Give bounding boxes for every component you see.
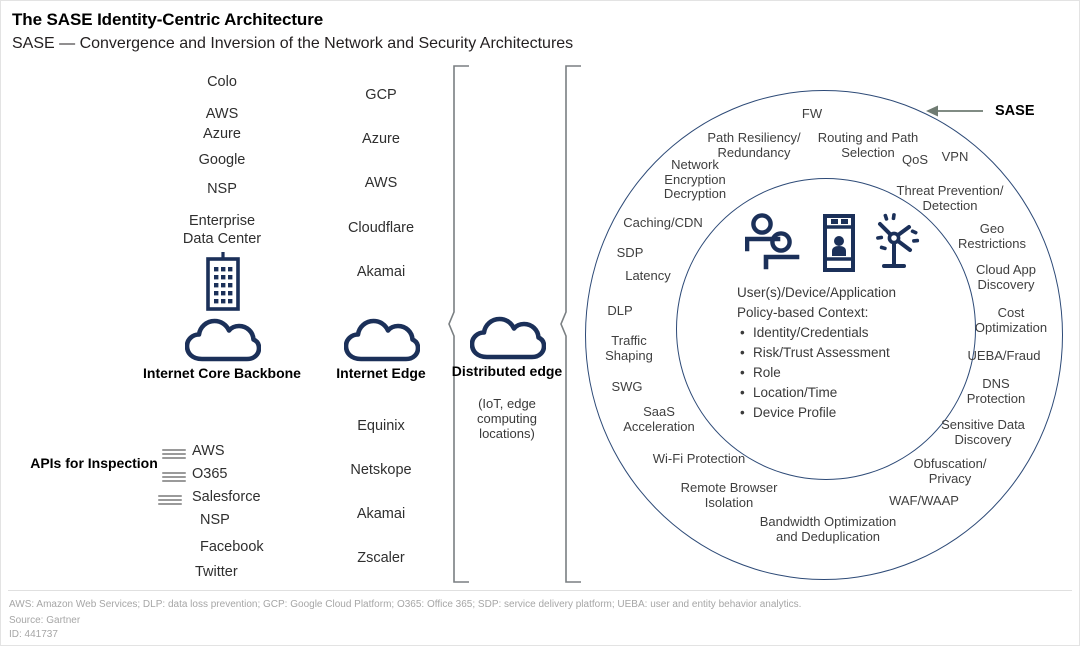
- ring-label-7: Caching/CDN: [623, 216, 702, 231]
- ring-label-10: Cloud App Discovery: [976, 263, 1036, 292]
- ring-label-3: QoS: [902, 153, 928, 168]
- sase-callout-label: SASE: [995, 103, 1035, 119]
- cloud-icon-core-backbone: [185, 315, 261, 363]
- edge-below-1: Netskope: [350, 462, 411, 478]
- core-below-1: O365: [192, 466, 227, 482]
- ring-label-1: Path Resiliency/ Redundancy: [707, 131, 800, 160]
- core-provider-2: Azure: [203, 126, 241, 142]
- sase-callout: SASE: [925, 103, 1035, 119]
- core-provider-0: Colo: [207, 74, 237, 90]
- core-provider-3: Google: [199, 152, 246, 168]
- iot-windmill-icon: [872, 212, 920, 272]
- core-bullet-1: Risk/Trust Assessment: [753, 343, 967, 363]
- office-building-icon: [197, 251, 249, 311]
- ring-label-20: Wi-Fi Protection: [653, 452, 745, 467]
- ring-label-24: Bandwidth Optimization and Deduplication: [760, 515, 897, 544]
- left-arrow-icon: [925, 104, 985, 118]
- internet-core-backbone-label: Internet Core Backbone: [143, 366, 301, 381]
- users-icon: [745, 212, 807, 274]
- device-kiosk-icon: [822, 214, 856, 272]
- ring-label-21: Obfuscation/ Privacy: [914, 457, 987, 486]
- core-heading-1: User(s)/Device/Application: [737, 283, 967, 303]
- api-lines-icon-aws: [162, 449, 186, 460]
- ring-label-16: SWG: [611, 380, 642, 395]
- ring-label-23: WAF/WAAP: [889, 494, 959, 509]
- ring-label-22: Remote Browser Isolation: [681, 481, 778, 510]
- bracket-divider-right: [560, 65, 582, 583]
- ring-label-17: DNS Protection: [967, 377, 1026, 406]
- ring-label-15: UEBA/Fraud: [968, 349, 1041, 364]
- cloud-icon-internet-edge: [344, 315, 420, 363]
- footer-id: ID: 441737: [9, 628, 58, 641]
- api-lines-icon-o365: [162, 472, 186, 483]
- core-below-4: Facebook: [200, 539, 264, 555]
- enterprise-data-center-label: Enterprise Data Center: [183, 212, 261, 248]
- edge-provider-4: Akamai: [357, 264, 405, 280]
- edge-below-3: Zscaler: [357, 550, 405, 566]
- footer-divider: [8, 590, 1072, 591]
- ring-label-6: Threat Prevention/ Detection: [897, 184, 1004, 213]
- core-below-0: AWS: [192, 443, 225, 459]
- distributed-edge-sublabel: (IoT, edge computing locations): [477, 396, 537, 441]
- edge-below-2: Akamai: [357, 506, 405, 522]
- edge-below-0: Equinix: [357, 418, 405, 434]
- edge-provider-2: AWS: [365, 175, 398, 191]
- ring-label-14: Traffic Shaping: [605, 334, 653, 363]
- bracket-divider-left: [448, 65, 470, 583]
- page-title: The SASE Identity-Centric Architecture: [12, 10, 323, 30]
- ring-label-8: Geo Restrictions: [958, 222, 1026, 251]
- core-heading-2: Policy-based Context:: [737, 303, 967, 323]
- core-bullet-2: Role: [753, 363, 967, 383]
- ring-label-18: SaaS Acceleration: [623, 405, 695, 434]
- edge-provider-0: GCP: [365, 87, 396, 103]
- core-below-2: Salesforce: [192, 489, 261, 505]
- sase-core-text: User(s)/Device/Application Policy-based …: [737, 283, 967, 423]
- apis-for-inspection-label: APIs for Inspection: [30, 456, 158, 471]
- edge-provider-1: Azure: [362, 131, 400, 147]
- core-provider-1: AWS: [206, 106, 239, 122]
- cloud-icon-distributed-edge: [470, 313, 546, 361]
- footer-legend: AWS: Amazon Web Services; DLP: data loss…: [9, 598, 801, 611]
- footer-source: Source: Gartner: [9, 614, 80, 627]
- ring-label-0: FW: [802, 107, 822, 122]
- core-bullet-list: Identity/CredentialsRisk/Trust Assessmen…: [737, 323, 967, 423]
- core-below-5: Twitter: [195, 564, 238, 580]
- core-provider-4: NSP: [207, 181, 237, 197]
- ring-label-9: SDP: [617, 246, 644, 261]
- ring-label-12: DLP: [607, 304, 632, 319]
- ring-label-5: Network Encryption Decryption: [664, 158, 726, 202]
- ring-label-11: Latency: [625, 269, 671, 284]
- api-lines-icon-salesforce: [158, 495, 182, 506]
- edge-provider-3: Cloudflare: [348, 220, 414, 236]
- distributed-edge-label: Distributed edge: [452, 364, 562, 379]
- page-subtitle: SASE — Convergence and Inversion of the …: [12, 35, 573, 53]
- core-below-3: NSP: [200, 512, 230, 528]
- ring-label-4: VPN: [942, 150, 969, 165]
- core-bullet-4: Device Profile: [753, 403, 967, 423]
- core-bullet-3: Location/Time: [753, 383, 967, 403]
- internet-edge-label: Internet Edge: [336, 366, 425, 381]
- core-bullet-0: Identity/Credentials: [753, 323, 967, 343]
- ring-label-13: Cost Optimization: [975, 306, 1047, 335]
